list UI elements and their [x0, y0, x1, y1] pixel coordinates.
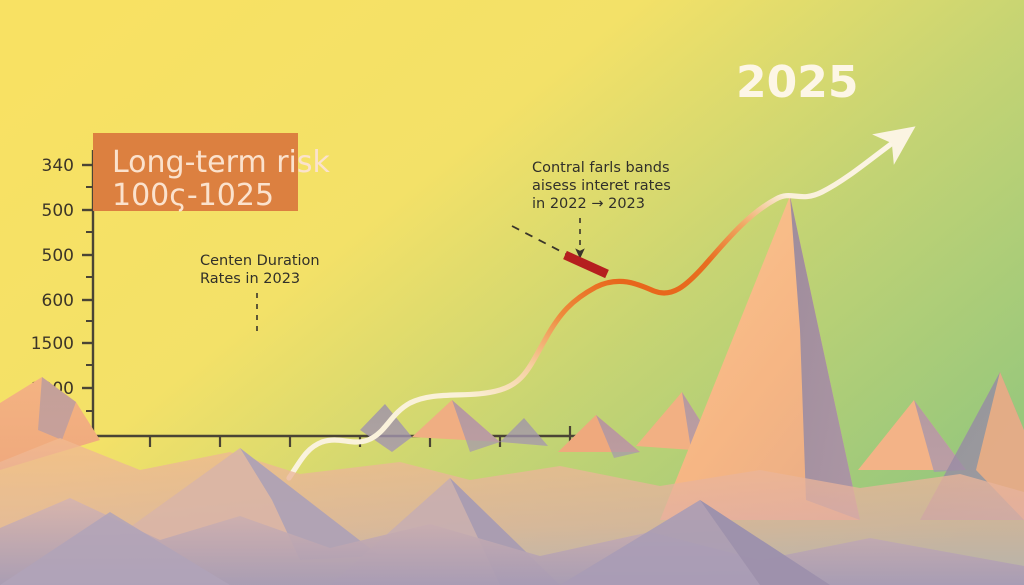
year-label-layer: 2025 — [0, 0, 1024, 585]
year-2025-label: 2025 — [736, 57, 858, 108]
infographic-canvas: 340 500 500 600 1500 1000 0 — [0, 0, 1024, 585]
